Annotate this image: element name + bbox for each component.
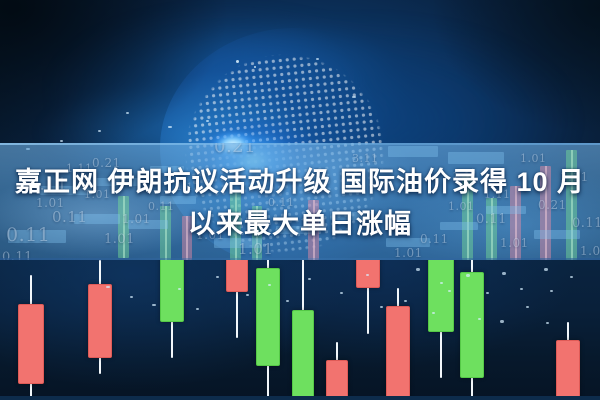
candlestick xyxy=(326,260,348,400)
candlestick-body xyxy=(326,360,348,400)
banner-image: 0.110.110.111.011.011.110.211.011.010.11… xyxy=(0,0,600,400)
particle xyxy=(478,318,481,320)
particle xyxy=(98,130,101,132)
headline-text: 嘉正网 伊朗抗议活动升级 国际油价录得 10 月 以来最大单日涨幅 xyxy=(0,161,600,245)
particle xyxy=(432,312,435,314)
particle xyxy=(448,290,451,292)
particle xyxy=(500,320,504,323)
band-top-edge xyxy=(0,143,600,145)
headline-line-1: 嘉正网 伊朗抗议活动升级 国际油价录得 10 月 xyxy=(0,161,600,203)
particle xyxy=(178,288,181,290)
candlestick-body xyxy=(226,260,248,292)
candlestick xyxy=(460,260,484,400)
candlestick-body xyxy=(160,260,184,322)
candlestick xyxy=(88,260,112,400)
particle xyxy=(126,112,129,114)
particle xyxy=(466,274,470,277)
particle xyxy=(352,96,356,98)
candlestick-body xyxy=(256,268,280,366)
candlestick xyxy=(356,260,380,400)
headline-line-2: 以来最大单日涨幅 xyxy=(0,203,600,245)
particle xyxy=(340,292,343,294)
particle xyxy=(486,292,489,294)
particle xyxy=(286,300,289,302)
particle xyxy=(236,60,239,63)
particle xyxy=(130,296,133,298)
candlestick-body xyxy=(386,306,410,400)
particle xyxy=(168,126,172,128)
candlestick xyxy=(226,260,248,400)
candlestick xyxy=(160,260,184,400)
band-number: 1.01 xyxy=(580,244,600,258)
particle xyxy=(550,290,553,292)
particle xyxy=(526,306,529,308)
particle xyxy=(254,66,256,68)
candlestick xyxy=(428,260,454,400)
candlestick xyxy=(556,260,580,400)
particle xyxy=(404,300,407,302)
candlestick-body xyxy=(460,272,484,378)
candlestick-body xyxy=(556,340,580,400)
candlestick-body xyxy=(88,284,112,358)
candlestick-body xyxy=(18,304,44,384)
candlestick xyxy=(18,260,44,400)
particle xyxy=(544,268,548,271)
band-bar xyxy=(388,146,438,157)
particle xyxy=(206,120,209,122)
particle xyxy=(216,276,219,278)
particle xyxy=(366,274,369,276)
candlestick xyxy=(256,260,280,400)
particle xyxy=(196,308,199,310)
particle xyxy=(308,278,311,280)
particle xyxy=(520,288,523,290)
particle xyxy=(416,268,420,271)
candlestick-body xyxy=(428,260,454,332)
candlestick-body xyxy=(292,310,314,398)
band-number: 0.21 xyxy=(214,143,256,157)
candlestick-chart xyxy=(0,260,600,400)
particle xyxy=(60,140,63,142)
particle xyxy=(268,284,271,286)
particle xyxy=(152,304,156,306)
candlestick xyxy=(292,260,314,400)
particle xyxy=(316,58,319,60)
particle xyxy=(106,286,110,288)
particle xyxy=(502,272,506,275)
particle xyxy=(380,306,383,308)
bottom-edge-strip xyxy=(0,396,600,400)
candlestick xyxy=(386,260,410,400)
particle xyxy=(440,282,443,284)
particle xyxy=(246,294,249,296)
particle xyxy=(570,276,573,278)
particle xyxy=(546,322,549,324)
